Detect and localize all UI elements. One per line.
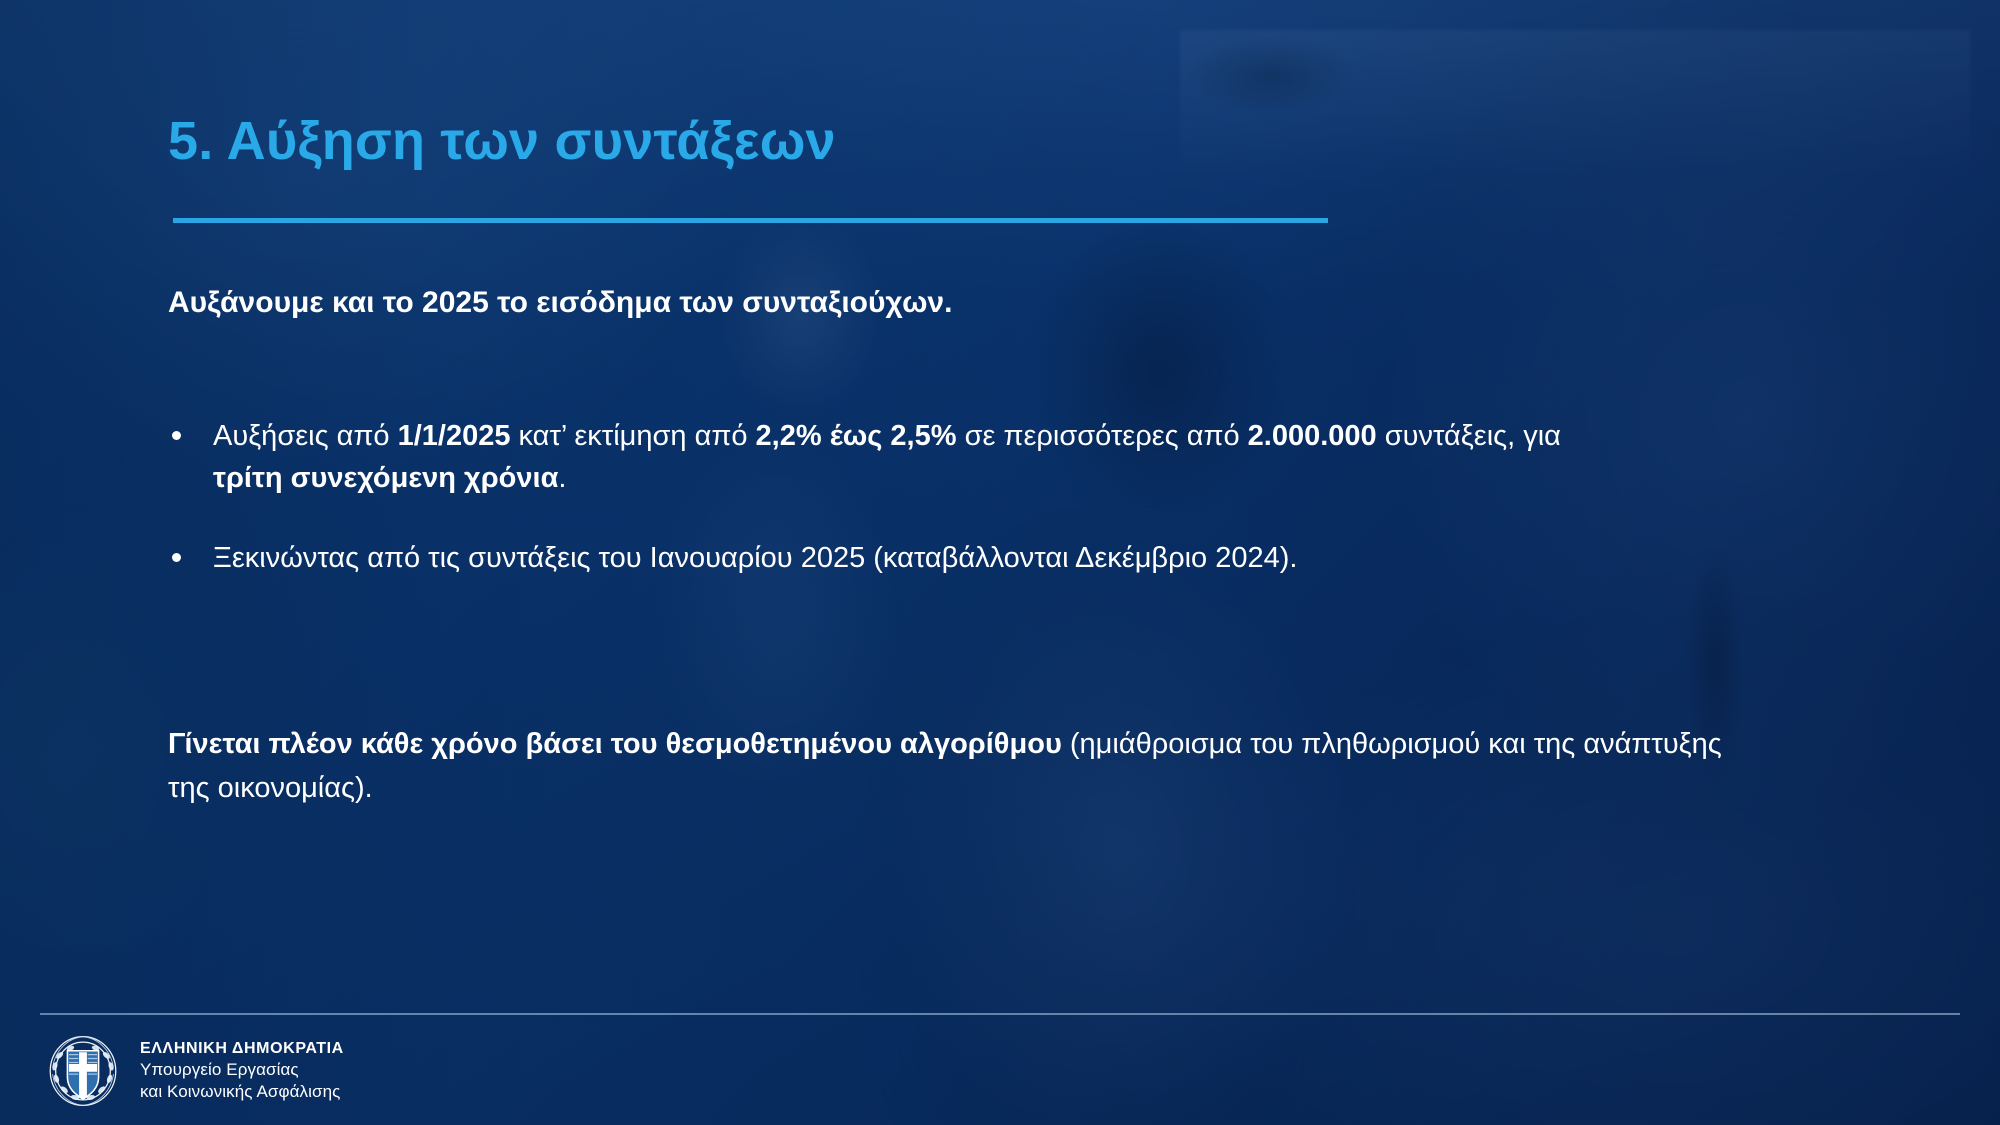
closing-text: Γίνεται πλέον κάθε χρόνο βάσει του θεσμο… bbox=[168, 728, 1722, 804]
footer-text-block: ΕΛΛΗΝΙΚΗ ΔΗΜΟΚΡΑΤΙΑ Υπουργείο Εργασίας κ… bbox=[140, 1039, 344, 1103]
bullet-text: Ξεκινώντας από τις συντάξεις του Ιανουαρ… bbox=[213, 542, 1297, 574]
footer-branding: ΕΛΛΗΝΙΚΗ ΔΗΜΟΚΡΑΤΙΑ Υπουργείο Εργασίας κ… bbox=[44, 1032, 344, 1110]
slide-title: 5. Αύξηση των συντάξεων bbox=[168, 110, 836, 172]
list-item: Αυξήσεις από 1/1/2025 κατ’ εκτίμηση από … bbox=[168, 415, 1598, 499]
list-item: Ξεκινώντας από τις συντάξεις του Ιανουαρ… bbox=[168, 537, 1598, 579]
slide-content: 5. Αύξηση των συντάξεων Αυξάνουμε και το… bbox=[0, 0, 2000, 1125]
slide-lead-statement: Αυξάνουμε και το 2025 το εισόδημα των συ… bbox=[168, 283, 1568, 324]
greek-republic-coat-of-arms-icon bbox=[44, 1032, 122, 1110]
bullet-dot-icon bbox=[172, 553, 181, 562]
bullet-list: Αυξήσεις από 1/1/2025 κατ’ εκτίμηση από … bbox=[168, 415, 1598, 579]
bullet-text: Αυξήσεις από 1/1/2025 κατ’ εκτίμηση από … bbox=[213, 420, 1561, 494]
closing-paragraph: Γίνεται πλέον κάθε χρόνο βάσει του θεσμο… bbox=[168, 723, 1768, 810]
footer-ministry-line2: και Κοινωνικής Ασφάλισης bbox=[140, 1081, 344, 1103]
footer-ministry-line1: Υπουργείο Εργασίας bbox=[140, 1059, 344, 1081]
title-underline-rule bbox=[173, 218, 1328, 223]
presentation-slide: 5. Αύξηση των συντάξεων Αυξάνουμε και το… bbox=[0, 0, 2000, 1125]
footer-republic-label: ΕΛΛΗΝΙΚΗ ΔΗΜΟΚΡΑΤΙΑ bbox=[140, 1039, 344, 1059]
footer-divider bbox=[40, 1013, 1960, 1015]
bullet-dot-icon bbox=[172, 431, 181, 440]
